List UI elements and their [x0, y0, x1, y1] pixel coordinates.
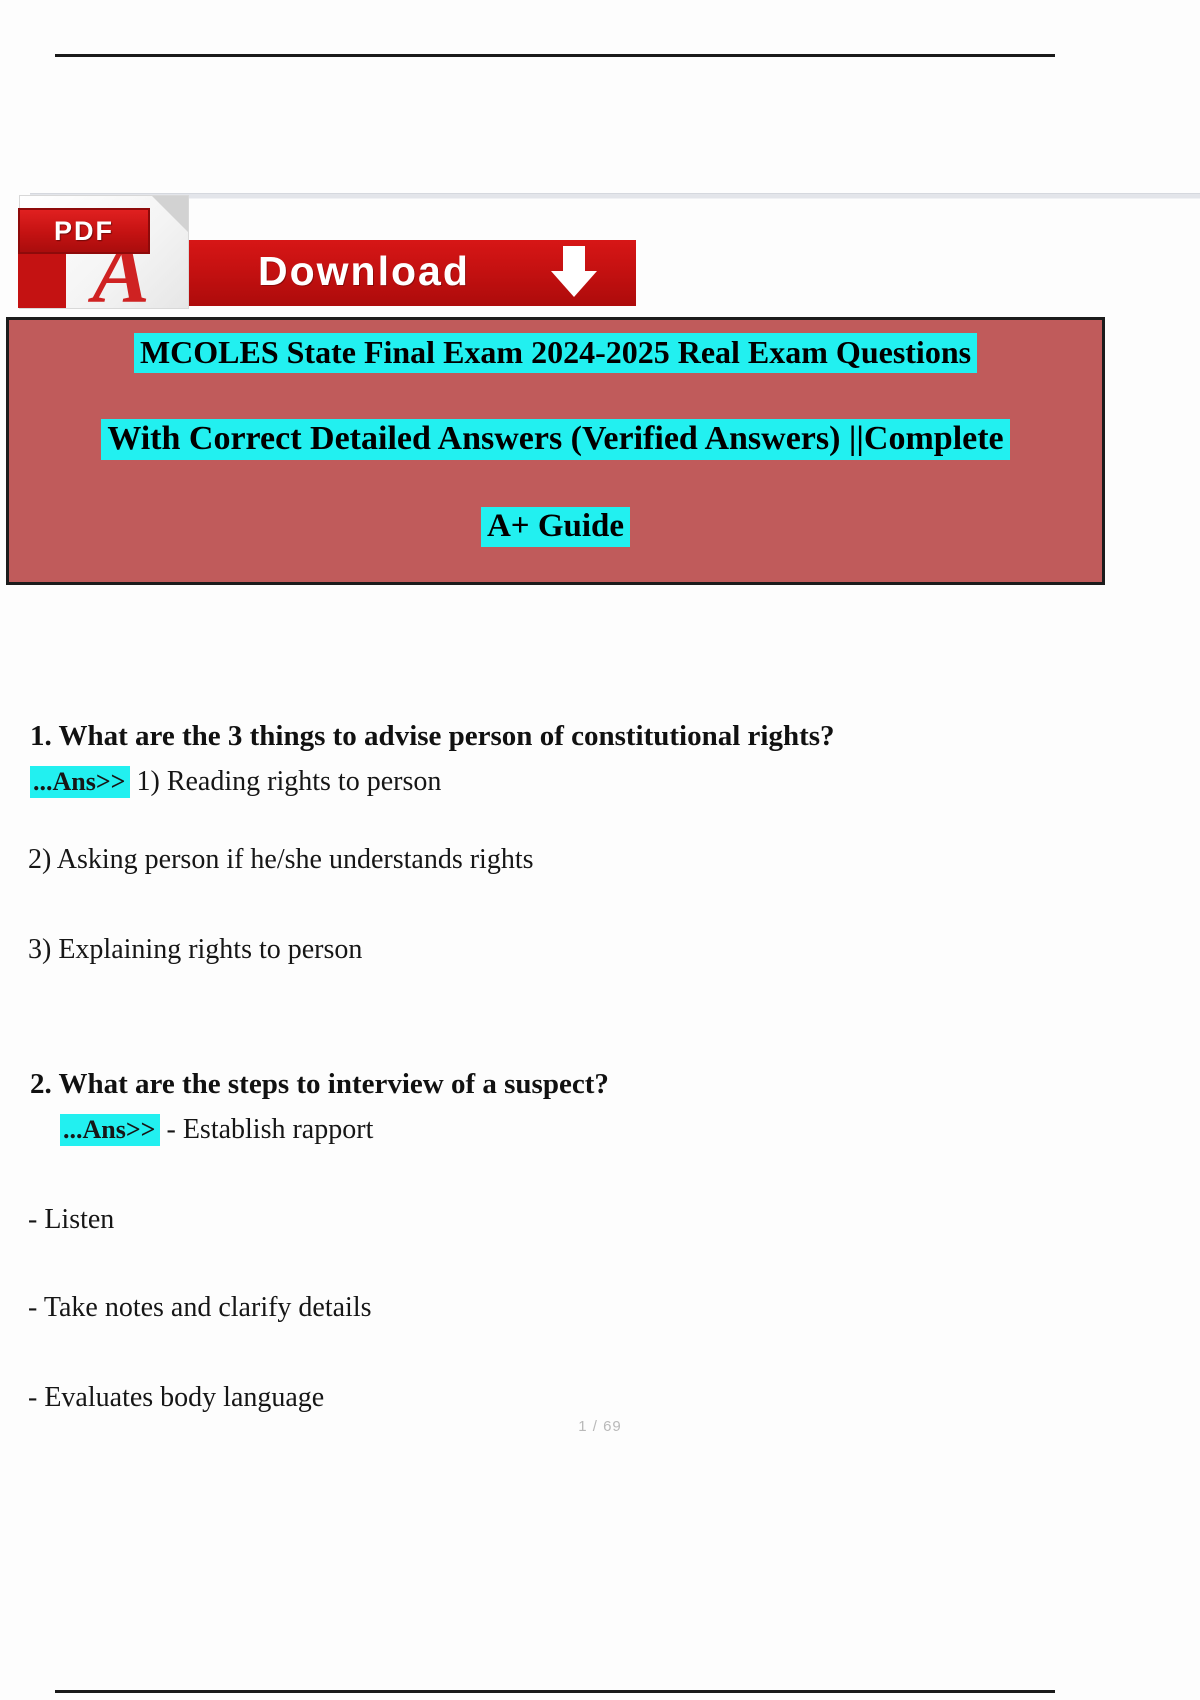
banner-line-3: A+ Guide	[9, 508, 1102, 545]
pdf-badge: PDF	[18, 208, 150, 254]
download-arrow-icon	[551, 246, 597, 298]
question-1-answer-item: 2) Asking person if he/she understands r…	[28, 844, 534, 876]
title-banner: MCOLES State Final Exam 2024-2025 Real E…	[6, 317, 1105, 585]
banner-line-1: MCOLES State Final Exam 2024-2025 Real E…	[9, 334, 1102, 371]
document-page: Download A PDF MCOLES State Final Exam 2…	[0, 0, 1200, 1700]
question-2-answer-item: - Evaluates body language	[28, 1382, 324, 1414]
question-1-heading: 1. What are the 3 things to advise perso…	[30, 720, 835, 752]
question-2-answer-first: ...Ans>> - Establish rapport	[60, 1114, 373, 1146]
question-2-heading: 2. What are the steps to interview of a …	[30, 1068, 609, 1100]
answer-tag: ...Ans>>	[60, 1114, 160, 1146]
arrow-head	[551, 271, 597, 297]
page-fold-corner	[152, 196, 188, 232]
question-1-answer-first-text: 1) Reading rights to person	[137, 766, 442, 797]
question-2-answer-item: - Listen	[28, 1204, 114, 1236]
page-bottom-rule	[55, 1690, 1055, 1693]
question-1-text: What are the 3 things to advise person o…	[58, 720, 834, 752]
question-1-answer-first: ...Ans>> 1) Reading rights to person	[30, 766, 441, 798]
banner-line-1-text: MCOLES State Final Exam 2024-2025 Real E…	[134, 333, 977, 373]
question-2-number: 2.	[30, 1068, 52, 1100]
banner-line-2-text: With Correct Detailed Answers (Verified …	[101, 419, 1009, 460]
banner-line-2: With Correct Detailed Answers (Verified …	[9, 420, 1102, 458]
page-top-rule	[55, 54, 1055, 57]
answer-tag: ...Ans>>	[30, 766, 130, 798]
question-1-number: 1.	[30, 720, 52, 752]
pdf-badge-label: PDF	[54, 216, 114, 247]
arrow-shaft	[563, 246, 585, 273]
question-2-answer-item: - Take notes and clarify details	[28, 1292, 372, 1324]
pdf-download-graphic[interactable]: Download A PDF	[18, 196, 638, 311]
banner-line-3-text: A+ Guide	[481, 507, 630, 547]
question-2-text: What are the steps to interview of a sus…	[58, 1068, 608, 1100]
page-counter: 1 / 69	[0, 1418, 1200, 1435]
question-2-answer-first-text: - Establish rapport	[167, 1114, 374, 1145]
pdf-icon-left-block	[18, 252, 66, 308]
pdf-file-icon: A PDF	[20, 196, 188, 308]
question-1-answer-item: 3) Explaining rights to person	[28, 934, 362, 966]
download-button-label: Download	[258, 248, 470, 295]
